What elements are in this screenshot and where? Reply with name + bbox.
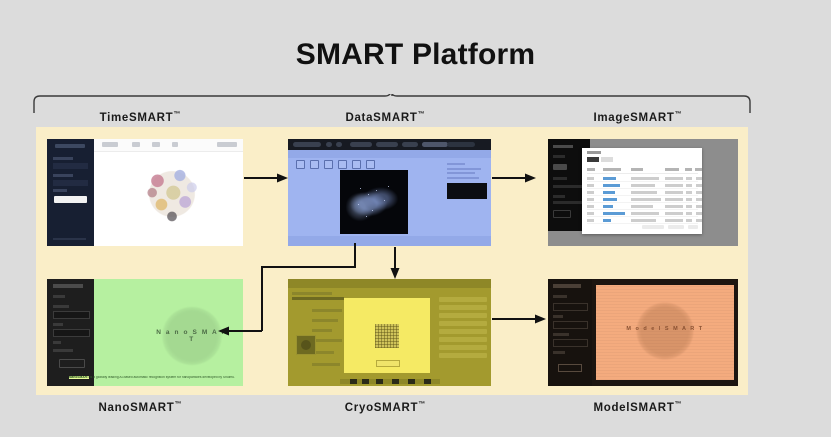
molecular-structure-icon: [139, 161, 205, 227]
particle-cloud-icon: [346, 182, 402, 222]
nanosmart-caption: NanoSMART is a globally leading AI-based…: [69, 376, 237, 380]
arrow-data-to-cryo: [388, 247, 402, 279]
timesmart-submit-button[interactable]: [54, 196, 87, 203]
nanosmart-logo: [53, 284, 83, 288]
arrow-cryo-to-model: [492, 312, 546, 326]
table-row: [587, 217, 698, 224]
panel-timesmart[interactable]: [47, 139, 243, 246]
cryo-grid-square-icon: [375, 324, 399, 348]
panel-nanosmart[interactable]: N a n o S M A R T NanoSMART is a globall…: [47, 279, 243, 386]
datasmart-subbar: [288, 150, 491, 158]
arrow-time-to-data: [244, 171, 288, 185]
table-row: [587, 210, 698, 217]
arrow-data-to-image: [492, 171, 536, 185]
panel-modelsmart[interactable]: M o d e l S M A R T: [548, 279, 738, 386]
diagram-root: SMART Platform TimeSMART™ DataSMART™ Ima…: [0, 0, 831, 437]
workflow-canvas: N a n o S M A R T NanoSMART is a globall…: [36, 127, 748, 395]
panel-imagesmart[interactable]: [548, 139, 738, 246]
trademark-icon: ™: [174, 401, 181, 408]
label-modelsmart: ModelSMART™: [535, 401, 740, 414]
timesmart-sidebar: [47, 139, 94, 246]
timesmart-footer: [53, 238, 86, 241]
datasmart-preview-thumb[interactable]: [447, 183, 487, 199]
panel-datasmart[interactable]: [288, 139, 491, 246]
modelsmart-sidebar: [548, 279, 592, 386]
arrow-data-to-nano: [216, 243, 361, 339]
tab-results-active[interactable]: [587, 157, 599, 162]
cryosmart-filmstrip[interactable]: [340, 379, 440, 384]
label-timesmart: TimeSMART™: [40, 111, 240, 124]
grid-hole-icon: [301, 340, 311, 350]
datasmart-titlebar[interactable]: [288, 139, 491, 150]
trademark-icon: ™: [675, 111, 682, 118]
modelsmart-watermark-text: M o d e l S M A R T: [625, 326, 705, 332]
page-title: SMART Platform: [0, 38, 831, 72]
nanosmart-sidebar: [47, 279, 94, 386]
label-datasmart: DataSMART™: [285, 111, 485, 124]
cryosmart-settings-panel[interactable]: [439, 297, 487, 361]
label-cryosmart: CryoSMART™: [285, 401, 485, 414]
tab-results-inactive[interactable]: [601, 157, 613, 162]
modelsmart-workspace[interactable]: M o d e l S M A R T: [596, 285, 734, 380]
timesmart-toolbar[interactable]: [94, 139, 243, 152]
label-imagesmart-text: ImageSMART: [593, 112, 674, 124]
nanosmart-caption-highlight: NanoSMART: [69, 376, 89, 379]
trademark-icon: ™: [418, 111, 425, 118]
table-row: [587, 203, 698, 210]
datasmart-micrograph-viewer[interactable]: [340, 170, 408, 234]
imagesmart-card-title: [587, 151, 601, 154]
trademark-icon: ™: [675, 401, 682, 408]
label-modelsmart-text: ModelSMART: [593, 402, 674, 414]
label-imagesmart: ImageSMART™: [535, 111, 740, 124]
timesmart-logo: [55, 144, 85, 148]
label-timesmart-text: TimeSMART: [100, 112, 174, 124]
label-cryosmart-text: CryoSMART: [345, 402, 418, 414]
modelsmart-run-button[interactable]: [558, 364, 582, 372]
imagesmart-results-card[interactable]: [582, 148, 702, 234]
table-row: [587, 196, 698, 203]
table-row: [587, 175, 698, 182]
trademark-icon: ™: [173, 111, 180, 118]
imagesmart-filter-chip[interactable]: [553, 164, 567, 170]
modelsmart-logo: [553, 284, 581, 288]
imagesmart-search-button[interactable]: [553, 210, 571, 218]
table-pagination[interactable]: [587, 225, 698, 229]
label-nanosmart-text: NanoSMART: [99, 402, 175, 414]
label-nanosmart: NanoSMART™: [40, 401, 240, 414]
trademark-icon: ™: [418, 401, 425, 408]
nanosmart-caption-text: is a globally leading AI-based automatic…: [89, 376, 235, 379]
cryosmart-confirm-button[interactable]: [376, 360, 400, 367]
table-row: [587, 182, 698, 189]
label-datasmart-text: DataSMART: [345, 112, 417, 124]
table-row: [587, 189, 698, 196]
nanosmart-submit-button[interactable]: [59, 359, 85, 368]
table-header: [587, 167, 698, 174]
datasmart-properties-panel: [447, 163, 487, 181]
